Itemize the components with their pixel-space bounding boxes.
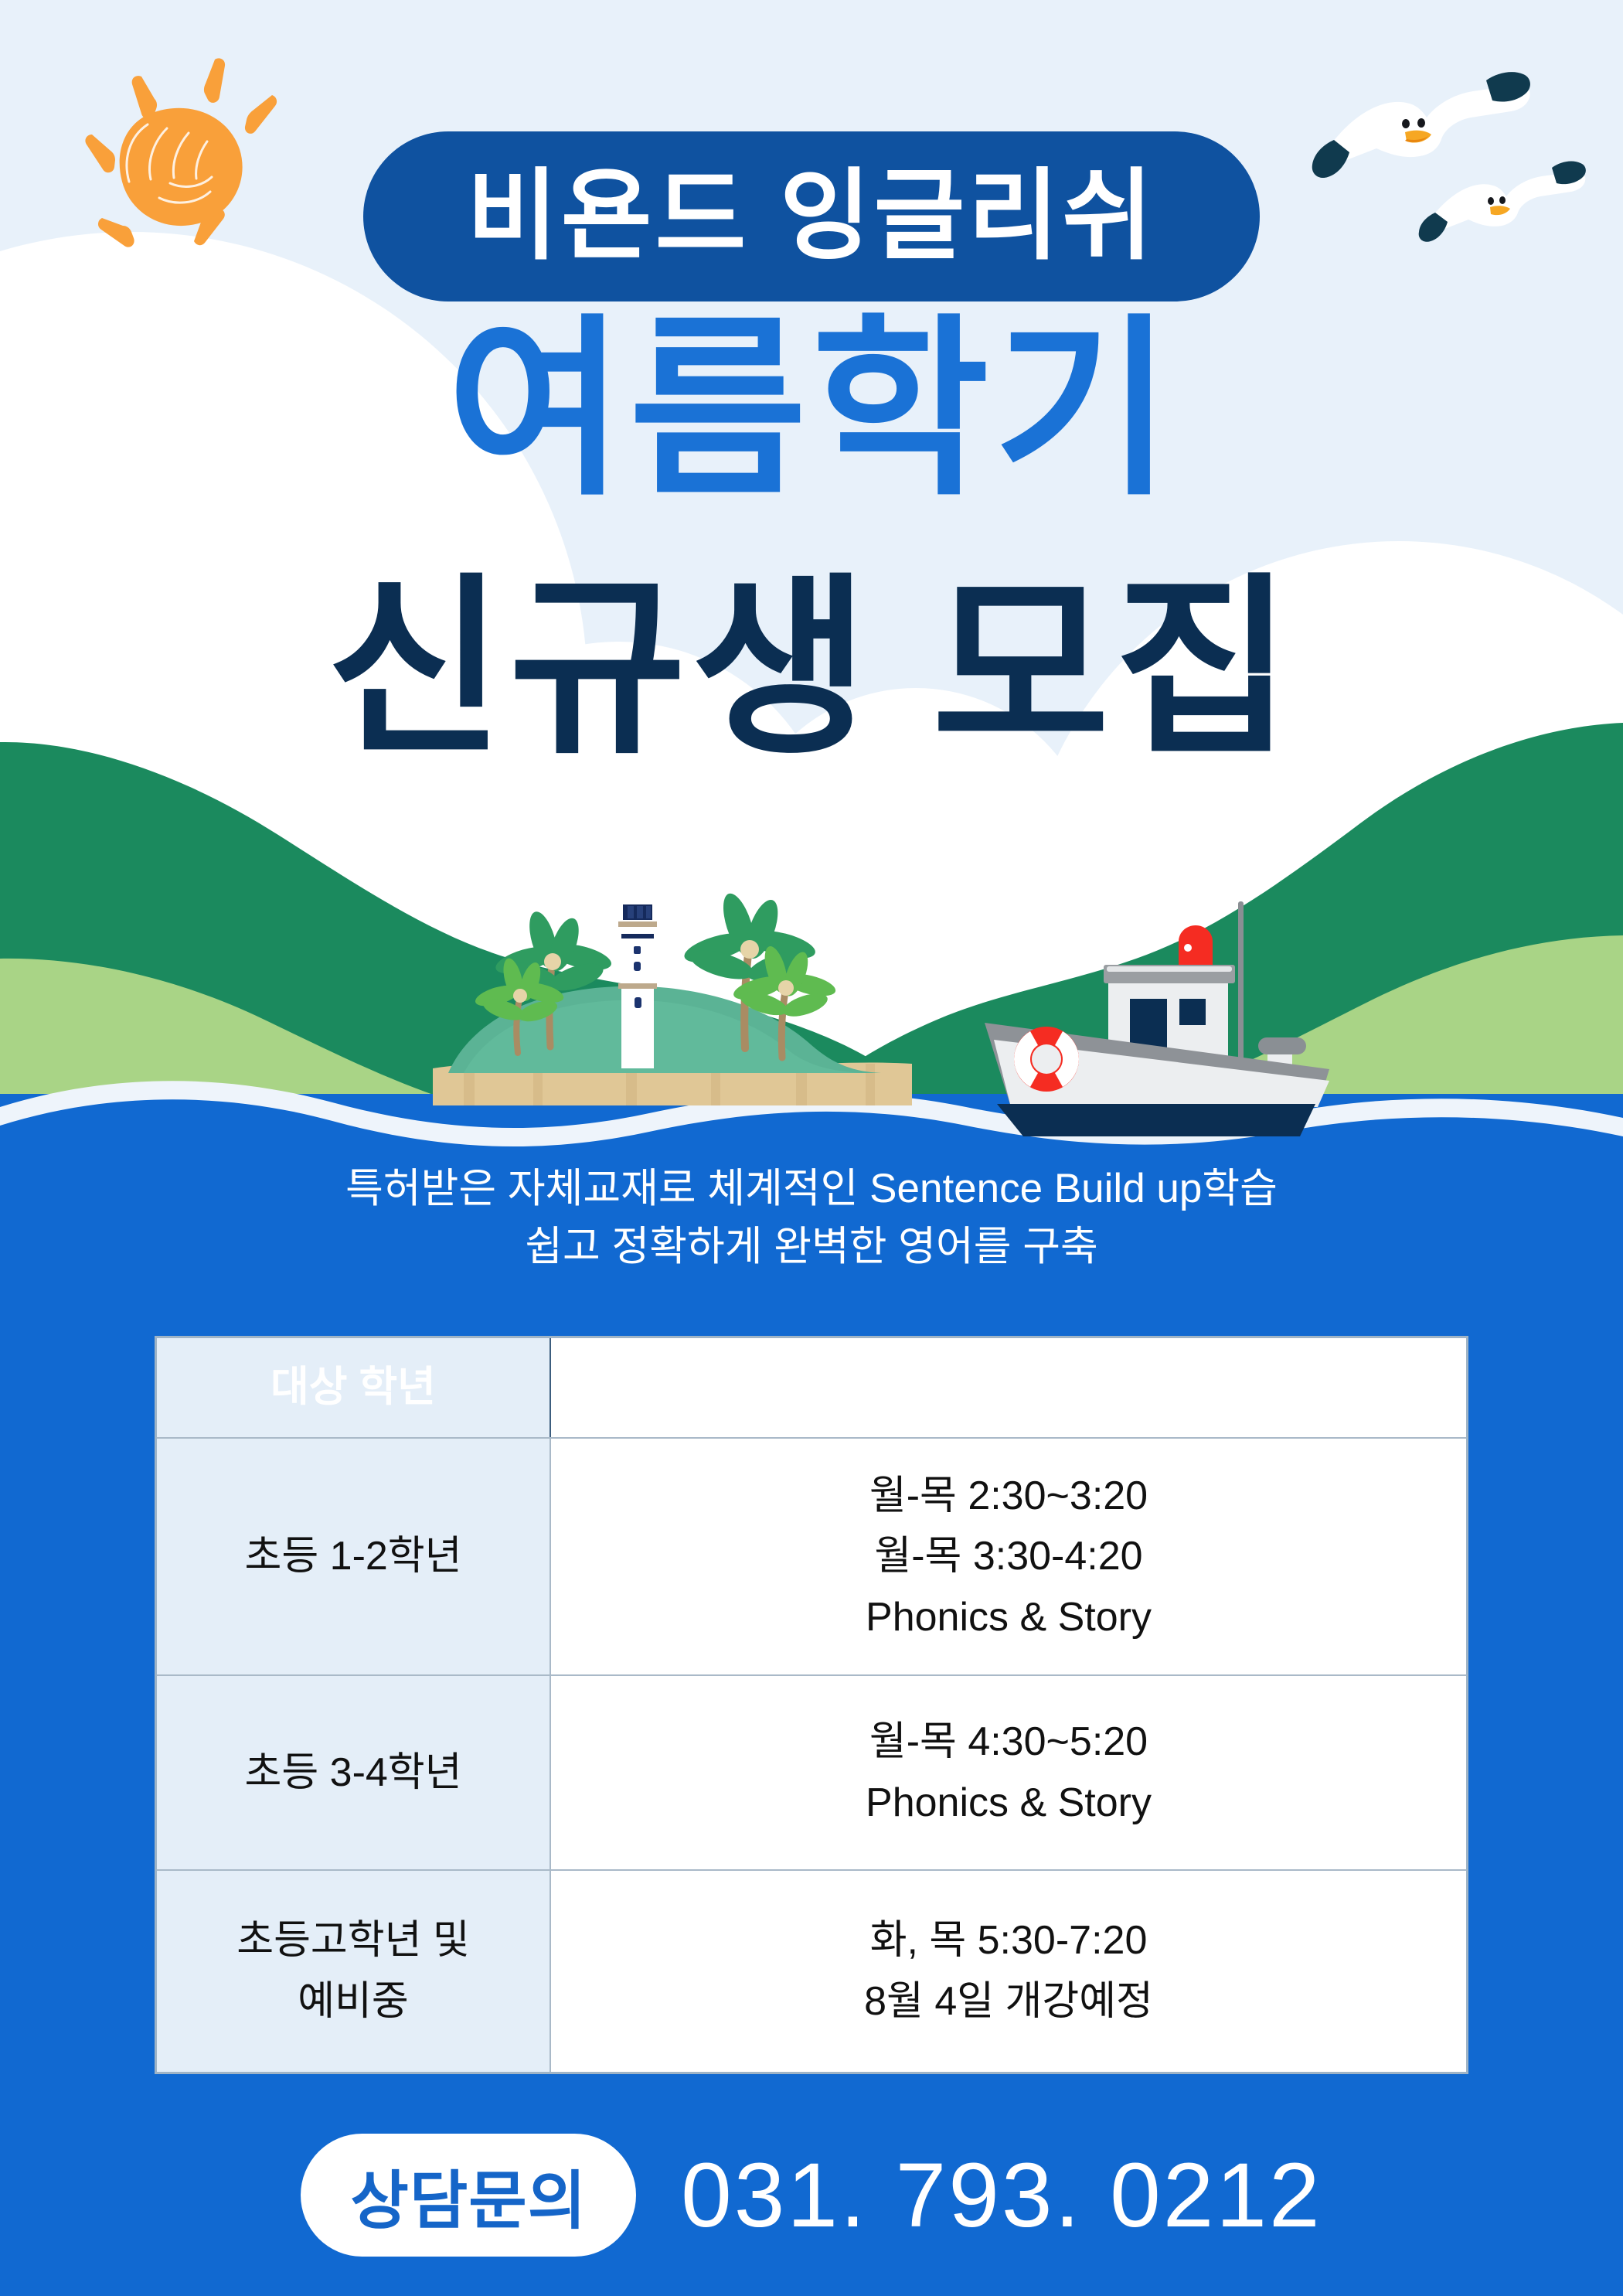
grade-line: 초등고학년 및 [236, 1914, 470, 1967]
grade-line: 예비중 [236, 1975, 470, 2029]
class-time-line: Phonics & Story [866, 1777, 1152, 1830]
page-title-line2: 신규생 모집 [0, 572, 1623, 765]
table-row: 초등 1-2학년 월-목 2:30~3:20 월-목 3:30-4:20 Pho… [157, 1437, 1466, 1674]
class-time-cell: 월-목 4:30~5:20 Phonics & Story [551, 1676, 1466, 1869]
table-row: 초등고학년 및 예비중 화, 목 5:30-7:20 8월 4일 개강예정 [157, 1869, 1466, 2072]
brand-badge-label: 비욘드 잉글리쉬 [467, 167, 1156, 266]
brand-badge: 비욘드 잉글리쉬 [363, 131, 1260, 301]
life-ring-icon [1014, 1027, 1079, 1092]
consultation-label: 상담문의 [350, 2149, 587, 2241]
headline-new-students: 신규생 모집 [326, 560, 1296, 776]
schedule-table: 대상 학년 수업 시간 초등 1-2학년 월-목 2:30~3:20 월-목 3… [155, 1336, 1468, 2074]
class-time-line: 월-목 3:30-4:20 [866, 1530, 1152, 1583]
class-time-line: 8월 4일 개강예정 [864, 1975, 1153, 2029]
class-time-line: 월-목 4:30~5:20 [866, 1715, 1152, 1769]
sun-icon [54, 46, 286, 271]
island-icon [433, 874, 912, 1129]
class-time-line: 화, 목 5:30-7:20 [864, 1914, 1153, 1967]
table-header-row: 대상 학년 수업 시간 [157, 1338, 1466, 1437]
class-time-cell: 월-목 2:30~3:20 월-목 3:30-4:20 Phonics & St… [551, 1439, 1466, 1674]
grade-cell: 초등고학년 및 예비중 [157, 1871, 551, 2072]
lighthouse-icon [618, 897, 657, 1068]
headline-summer-term: 여름학기 [447, 301, 1176, 517]
contact-footer: 상담문의 031. 793. 0212 [0, 2134, 1623, 2257]
page-title-line1: 여름학기 [0, 313, 1623, 506]
column-header-grade: 대상 학년 [157, 1338, 551, 1437]
seagull-icon [1414, 131, 1623, 271]
grade-cell: 초등 1-2학년 [157, 1439, 551, 1674]
table-row: 초등 3-4학년 월-목 4:30~5:20 Phonics & Story [157, 1674, 1466, 1869]
poster-root: 비욘드 잉글리쉬 여름학기 신규생 모집 특허받은 자체교재로 체계적인 Sen… [0, 0, 1623, 2296]
subtitle-line-1: 특허받은 자체교재로 체계적인 Sentence Build up학습 [0, 1160, 1623, 1218]
fishing-boat-icon [966, 881, 1376, 1144]
class-time-cell: 화, 목 5:30-7:20 8월 4일 개강예정 [551, 1871, 1466, 2072]
phone-number[interactable]: 031. 793. 0212 [681, 2143, 1322, 2248]
class-time-line: 월-목 2:30~3:20 [866, 1470, 1152, 1523]
consultation-pill[interactable]: 상담문의 [301, 2134, 636, 2257]
subtitle-line-2: 쉽고 정확하게 완벽한 영어를 구축 [0, 1218, 1623, 1276]
grade-cell: 초등 3-4학년 [157, 1676, 551, 1869]
class-time-line: Phonics & Story [866, 1591, 1152, 1644]
subtitle-block: 특허받은 자체교재로 체계적인 Sentence Build up학습 쉽고 정… [0, 1160, 1623, 1276]
column-header-class-time: 수업 시간 [551, 1338, 1466, 1437]
